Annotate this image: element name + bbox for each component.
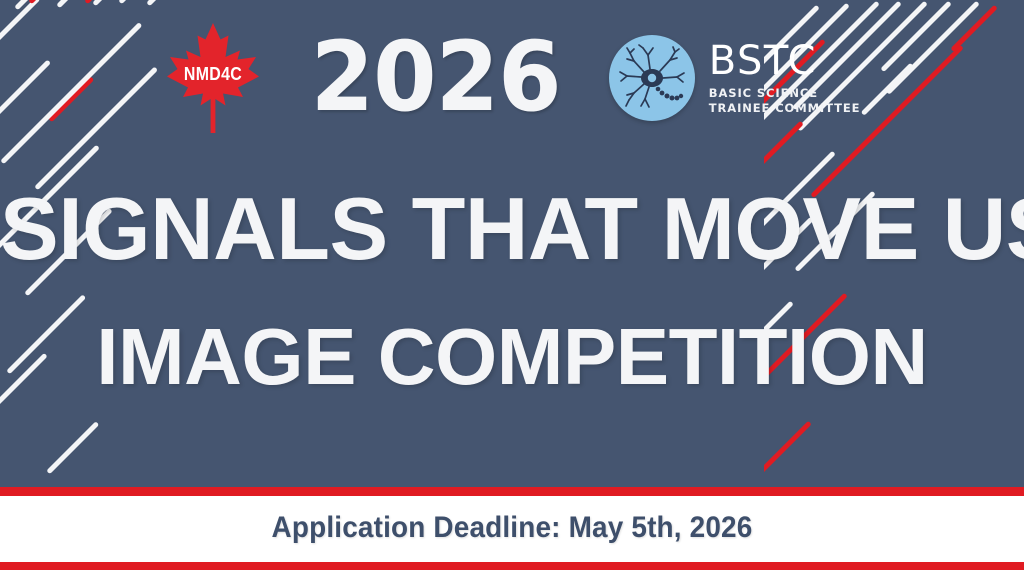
decorative-streak [118, 0, 228, 4]
bstc-logo-circle [609, 35, 695, 121]
decorative-streak [28, 0, 73, 4]
footer-rule-top [0, 487, 1024, 496]
bstc-acronym: BSTC [709, 41, 861, 81]
bstc-tagline: BASIC SCIENCE TRAINEE COMMITTEE [709, 86, 861, 115]
headline-line-2: IMAGE COMPETITION [0, 315, 1024, 400]
page-title: SIGNALS THAT MOVE US IMAGE COMPETITION [0, 182, 1024, 400]
decorative-streak [0, 0, 46, 8]
header-logo-row: NMD4C 2026 [0, 18, 1024, 138]
nmd4c-label: NMD4C [170, 63, 254, 85]
decorative-streak [0, 0, 40, 6]
poster-canvas: NMD4C 2026 [0, 0, 1024, 576]
decorative-streak [92, 0, 245, 6]
decorative-streak [56, 0, 151, 8]
neuron-icon [617, 43, 687, 113]
decorative-streak [146, 0, 209, 6]
year-text: 2026 [310, 32, 560, 123]
deadline-text: Application Deadline: May 5th, 2026 [36, 511, 988, 545]
headline-line-1: SIGNALS THAT MOVE US [0, 182, 1024, 275]
bstc-wordmark: BSTC BASIC SCIENCE TRAINEE COMMITTEE [709, 41, 861, 115]
footer-band: Application Deadline: May 5th, 2026 [0, 487, 1024, 576]
footer-rule-bottom [0, 562, 1024, 570]
nmd4c-logo: NMD4C [164, 19, 262, 137]
decorative-streak [46, 421, 99, 474]
decorative-streak [14, 0, 163, 10]
decorative-streak [84, 0, 172, 4]
bstc-logo: BSTC BASIC SCIENCE TRAINEE COMMITTEE [609, 35, 861, 121]
